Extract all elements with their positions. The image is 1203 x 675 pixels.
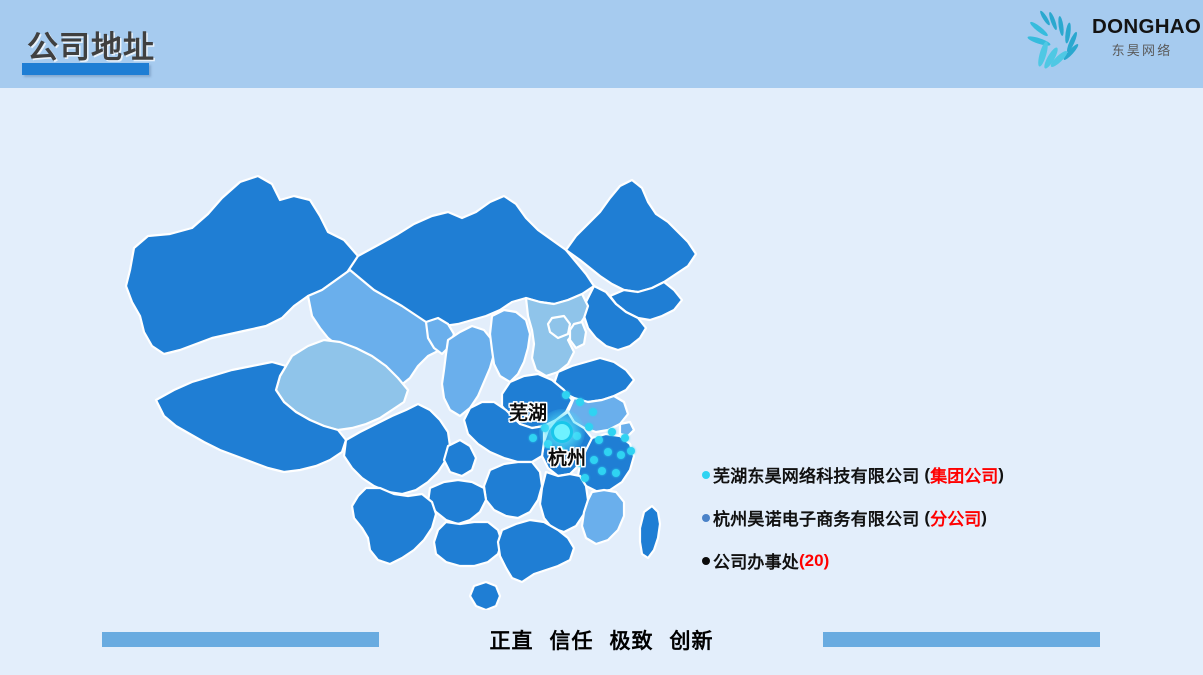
feather-fan-icon — [1026, 8, 1092, 72]
slogan-word: 信任 — [550, 630, 594, 653]
logo-name: DONGHAO — [1092, 16, 1192, 38]
legend-paren-close: ) — [981, 508, 987, 528]
legend-paren-close: ) — [998, 465, 1004, 485]
legend-label: 杭州昊诺电子商务有限公司 — [713, 505, 919, 530]
province-taiwan — [640, 506, 660, 558]
footer-slogan: 正直信任极致创新 — [0, 625, 1203, 655]
province-guizhou — [428, 480, 486, 524]
legend-tag: 集团公司 — [930, 462, 998, 487]
slide-company-address: 公司地址 — [0, 0, 1203, 675]
slogan-word: 创新 — [670, 630, 714, 653]
legend-tag: (20) — [799, 551, 829, 571]
city-tianjin — [570, 322, 586, 348]
city-chongqing — [444, 440, 476, 476]
legend-branch-company: 杭州昊诺电子商务有限公司 ( 分公司 ) — [702, 505, 1122, 530]
logo-text-block: DONGHAO 东昊网络 — [1092, 16, 1192, 59]
legend: 芜湖东昊网络科技有限公司 ( 集团公司 ) 杭州昊诺电子商务有限公司 ( 分公司… — [702, 462, 1122, 591]
legend-bullet-icon — [702, 471, 710, 479]
province-yunnan — [352, 488, 436, 564]
legend-tag: 分公司 — [930, 505, 981, 530]
legend-label: 公司办事处 — [713, 548, 799, 573]
title-underline-bar — [22, 63, 149, 75]
slide-header: 公司地址 — [0, 0, 1203, 88]
legend-paren-open: ( — [919, 465, 930, 485]
legend-bullet-icon — [702, 557, 710, 565]
slogan-word: 极致 — [610, 630, 654, 653]
china-provinces-map — [96, 140, 716, 610]
legend-offices: 公司办事处 (20) — [702, 548, 1122, 573]
city-shanghai — [620, 422, 634, 436]
legend-label: 芜湖东昊网络科技有限公司 — [713, 462, 919, 487]
company-logo: DONGHAO 东昊网络 — [1018, 4, 1193, 76]
china-map-container: 芜湖杭州 — [96, 140, 716, 610]
page-title: 公司地址 — [27, 22, 155, 67]
legend-paren-open: ( — [919, 508, 930, 528]
province-hainan — [470, 582, 500, 610]
slogan-word: 正直 — [490, 630, 534, 653]
province-shanxi — [490, 310, 530, 382]
legend-group-company: 芜湖东昊网络科技有限公司 ( 集团公司 ) — [702, 462, 1122, 487]
logo-subtitle: 东昊网络 — [1092, 40, 1192, 59]
province-fujian — [582, 490, 624, 544]
province-hunan — [484, 462, 542, 518]
legend-bullet-icon — [702, 514, 710, 522]
province-guangxi — [434, 522, 502, 566]
